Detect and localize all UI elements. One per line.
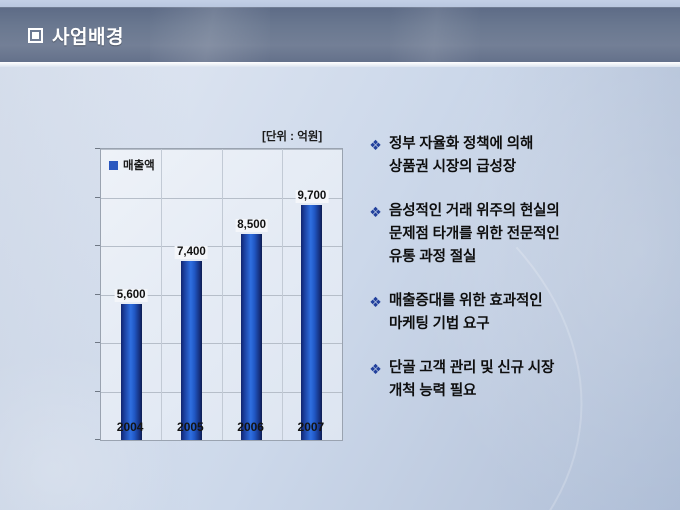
bullet-text: 단골 고객 관리 및 신규 시장개척 능력 필요 [389, 357, 668, 403]
category-separator [222, 149, 223, 440]
bar-2006 [241, 234, 262, 440]
bullet-line: 문제점 타개를 위한 전문적인 [389, 223, 668, 246]
bullet-text: 음성적인 거래 위주의 현실의문제점 타개를 위한 전문적인유통 과정 절실 [389, 200, 668, 269]
square-bullet-icon [28, 28, 43, 43]
y-axis-tick-mark [95, 391, 100, 392]
y-axis-tick-mark [95, 245, 100, 246]
bullet-item-2: ❖음성적인 거래 위주의 현실의문제점 타개를 위한 전문적인유통 과정 절실 [368, 200, 668, 269]
y-axis-tick-mark [95, 342, 100, 343]
bullet-line: 상품권 시장의 급성장 [389, 156, 668, 179]
bar-value-label: 8,500 [235, 219, 268, 232]
top-strip [0, 0, 680, 7]
header-underline [0, 62, 680, 67]
diamond-bullet-icon: ❖ [368, 135, 383, 155]
bullet-line: 정부 자율화 정책에 의해 [389, 133, 668, 156]
bar-value-label: 5,600 [115, 289, 148, 302]
y-axis-tick-mark [95, 197, 100, 198]
slide: 사업배경 [단위 : 억원] 매출액 5,6007,4008,5009,700 … [0, 0, 680, 510]
x-axis-tick-label: 2006 [237, 420, 264, 434]
diamond-bullet-icon: ❖ [368, 202, 383, 222]
diamond-bullet-icon: ❖ [368, 359, 383, 379]
header-sheen-1 [150, 7, 270, 62]
bullet-item-4: ❖단골 고객 관리 및 신규 시장개척 능력 필요 [368, 357, 668, 403]
bullet-item-1: ❖정부 자율화 정책에 의해상품권 시장의 급성장 [368, 133, 668, 179]
bar-2005 [181, 261, 202, 440]
page-title-label: 사업배경 [52, 22, 124, 49]
header-sheen-2 [390, 7, 480, 62]
sales-bar-chart: [단위 : 억원] 매출액 5,6007,4008,5009,700 02,00… [0, 120, 360, 450]
y-axis-tick-mark [95, 439, 100, 440]
y-axis-tick-mark [95, 294, 100, 295]
bullet-line: 음성적인 거래 위주의 현실의 [389, 200, 668, 223]
chart-bars: 5,6007,4008,5009,700 [101, 149, 342, 440]
bullet-line: 유통 과정 절실 [389, 246, 668, 269]
bar-value-label: 7,400 [175, 246, 208, 259]
bar-2007 [301, 205, 322, 440]
category-separator [282, 149, 283, 440]
y-axis-tick-mark [95, 148, 100, 149]
chart-unit-label: [단위 : 억원] [262, 128, 322, 144]
bullet-text: 정부 자율화 정책에 의해상품권 시장의 급성장 [389, 133, 668, 179]
bar-value-label: 9,700 [295, 190, 328, 203]
diamond-bullet-icon: ❖ [368, 292, 383, 312]
x-axis-tick-label: 2004 [117, 420, 144, 434]
x-axis-tick-label: 2005 [177, 420, 204, 434]
chart-plot-area: 매출액 5,6007,4008,5009,700 [100, 148, 343, 441]
bullet-line: 단골 고객 관리 및 신규 시장 [389, 357, 668, 380]
category-separator [161, 149, 162, 440]
bullet-item-3: ❖매출증대를 위한 효과적인마케팅 기법 요구 [368, 290, 668, 336]
bullet-line: 매출증대를 위한 효과적인 [389, 290, 668, 313]
page-title: 사업배경 [28, 22, 124, 49]
bullet-text: 매출증대를 위한 효과적인마케팅 기법 요구 [389, 290, 668, 336]
bullet-line: 개척 능력 필요 [389, 380, 668, 403]
bullet-list: ❖정부 자율화 정책에 의해상품권 시장의 급성장❖음성적인 거래 위주의 현실… [368, 133, 668, 424]
bullet-line: 마케팅 기법 요구 [389, 313, 668, 336]
x-axis-tick-label: 2007 [298, 420, 325, 434]
